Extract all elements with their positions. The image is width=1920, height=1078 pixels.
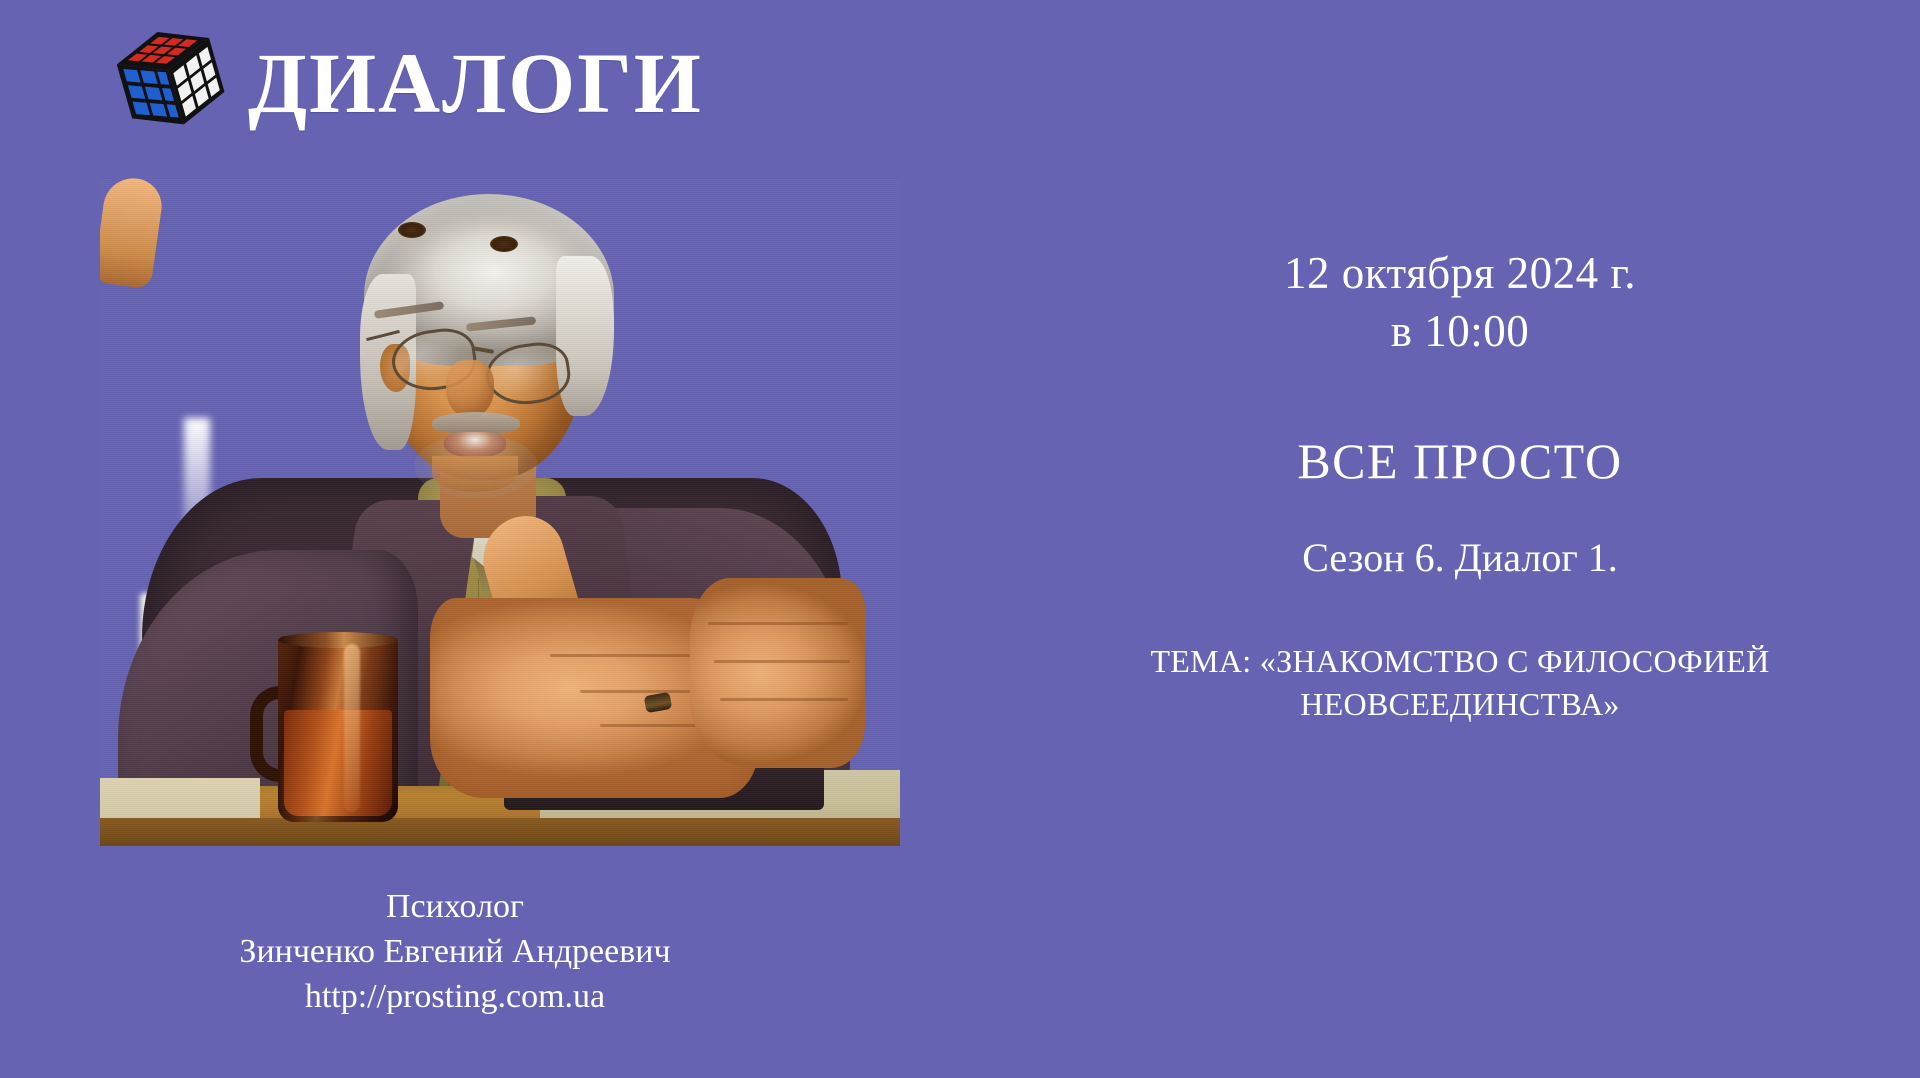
photo-caption: Психолог Зинченко Евгений Андреевич http… xyxy=(60,885,850,1020)
event-datetime: 12 октября 2024 г. в 10:00 xyxy=(1020,245,1900,360)
mustache xyxy=(432,412,520,434)
head xyxy=(358,194,616,494)
table-front-edge xyxy=(100,818,900,846)
season-episode: Сезон 6. Диалог 1. xyxy=(1020,534,1900,581)
eye-right xyxy=(490,236,518,252)
coffee-mug xyxy=(252,636,412,822)
nose xyxy=(446,360,494,418)
caption-website[interactable]: http://prosting.com.ua xyxy=(60,975,850,1020)
poster-canvas: ДИАЛОГИ xyxy=(0,0,1920,1078)
caption-name: Зинченко Евгений Андреевич xyxy=(60,930,850,975)
brand-logo-block: ДИАЛОГИ xyxy=(120,28,703,138)
rubiks-cube-icon xyxy=(107,16,237,150)
event-time: в 10:00 xyxy=(1020,303,1900,361)
theme-line-1: ТЕМА: «ЗНАКОМСТВО С ФИЛОСОФИЕЙ xyxy=(1020,640,1900,683)
photo-content xyxy=(100,178,900,846)
theme-line-2: НЕОВСЕЕДИНСТВА» xyxy=(1020,683,1900,726)
finger-crease xyxy=(708,622,848,625)
chin xyxy=(432,456,518,492)
show-title: ВСЕ ПРОСТО xyxy=(1020,432,1900,490)
event-details-column: 12 октября 2024 г. в 10:00 ВСЕ ПРОСТО Се… xyxy=(1020,0,1900,1078)
event-theme: ТЕМА: «ЗНАКОМСТВО С ФИЛОСОФИЕЙ НЕОВСЕЕДИ… xyxy=(1020,640,1900,726)
thumb-right-hand xyxy=(100,178,165,290)
event-date: 12 октября 2024 г. xyxy=(1020,245,1900,303)
mug-rim xyxy=(278,632,398,648)
mouth xyxy=(444,432,506,458)
eye-left xyxy=(398,222,426,238)
caption-role: Психолог xyxy=(60,885,850,930)
mug-highlight xyxy=(344,644,360,812)
brand-title: ДИАЛОГИ xyxy=(248,40,703,126)
hand-right xyxy=(690,578,865,768)
finger-crease xyxy=(720,698,848,701)
speaker-photo xyxy=(100,178,900,846)
glasses-lens-right xyxy=(482,338,574,409)
finger-crease xyxy=(714,660,850,663)
mug-liquid xyxy=(284,710,392,816)
